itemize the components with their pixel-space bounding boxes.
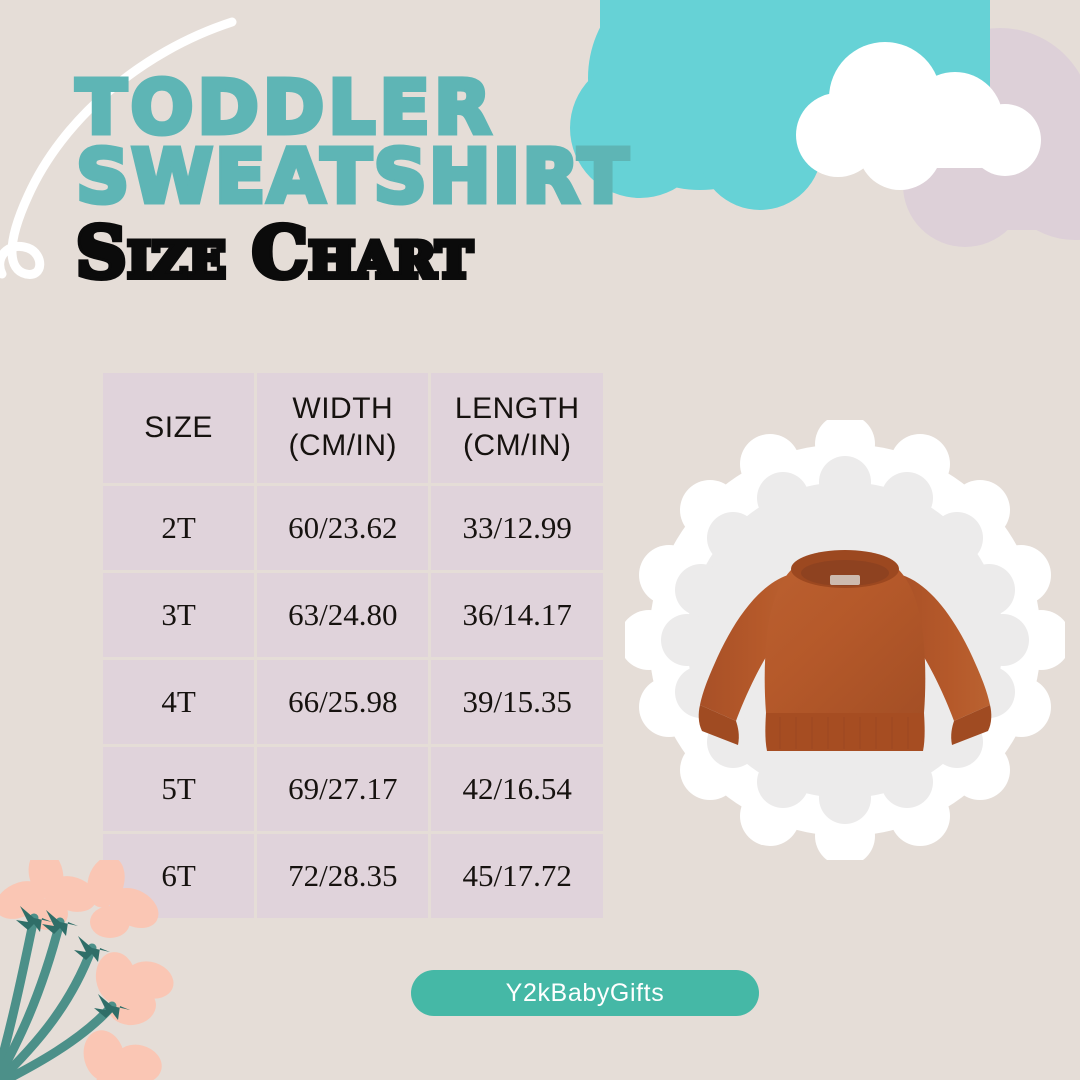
size-chart-canvas: TODDLER SWEATSHIRT Size Chart SIZE WIDTH… — [0, 0, 1080, 1080]
cell-size: 5T — [103, 747, 254, 831]
table-row: 4T 66/25.98 39/15.35 — [103, 660, 603, 744]
column-header-length-units: (CM/IN) — [431, 428, 603, 465]
cell-length: 39/15.35 — [431, 660, 603, 744]
sweatshirt-icon — [680, 519, 1010, 779]
cell-width: 66/25.98 — [257, 660, 428, 744]
column-header-width-label: WIDTH — [257, 391, 428, 428]
cell-length: 36/14.17 — [431, 573, 603, 657]
flower-stems — [0, 918, 112, 1080]
table-header-row: SIZE WIDTH (CM/IN) LENGTH (CM/IN) — [103, 373, 603, 483]
cell-size: 3T — [103, 573, 254, 657]
cell-length: 33/12.99 — [431, 486, 603, 570]
brand-footer-pill: Y2kBabyGifts — [411, 970, 759, 1016]
cell-width: 72/28.35 — [257, 834, 428, 918]
table-row: 3T 63/24.80 36/14.17 — [103, 573, 603, 657]
cloud-white-icon — [796, 42, 1041, 190]
column-header-width-units: (CM/IN) — [257, 428, 428, 465]
table-row: 2T 60/23.62 33/12.99 — [103, 486, 603, 570]
cloud-mauve-icon — [903, 28, 1080, 247]
product-photo-frame — [625, 420, 1065, 860]
cell-size: 6T — [103, 834, 254, 918]
page-subtitle: Size Chart — [76, 218, 776, 288]
table-row: 6T 72/28.35 45/17.72 — [103, 834, 603, 918]
column-header-size: SIZE — [103, 373, 254, 483]
column-header-length-label: LENGTH — [431, 391, 603, 428]
page-title-block: TODDLER SWEATSHIRT Size Chart — [76, 74, 776, 288]
title-line-1: TODDLER — [76, 74, 776, 143]
flower-calyx — [16, 906, 130, 1020]
cell-width: 69/27.17 — [257, 747, 428, 831]
cell-size: 4T — [103, 660, 254, 744]
cell-length: 45/17.72 — [431, 834, 603, 918]
hem-ribbing — [765, 713, 924, 751]
cell-width: 60/23.62 — [257, 486, 428, 570]
column-header-length: LENGTH (CM/IN) — [431, 373, 603, 483]
column-header-width: WIDTH (CM/IN) — [257, 373, 428, 483]
size-chart-table: SIZE WIDTH (CM/IN) LENGTH (CM/IN) 2T 60/… — [100, 370, 606, 921]
column-header-size-label: SIZE — [103, 410, 254, 447]
cell-width: 63/24.80 — [257, 573, 428, 657]
cell-length: 42/16.54 — [431, 747, 603, 831]
title-line-2: SWEATSHIRT — [76, 143, 776, 212]
cell-size: 2T — [103, 486, 254, 570]
table-row: 5T 69/27.17 42/16.54 — [103, 747, 603, 831]
brand-name-label: Y2kBabyGifts — [506, 979, 665, 1008]
product-sweatshirt-image — [680, 519, 1010, 779]
neck-tag — [830, 575, 860, 585]
